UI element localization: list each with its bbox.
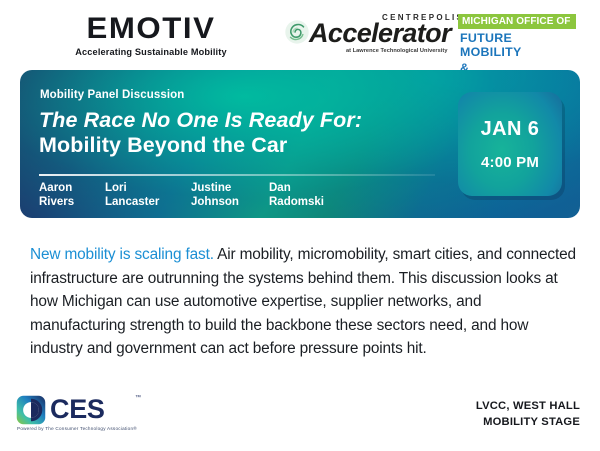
centrepolis-subtitle: at Lawrence Technological University [346,48,447,54]
ces-logo: CES ™ Powered by The Consumer Technology… [16,393,176,435]
panelist-first-name: Dan [269,182,359,196]
banner-title-line-2: Mobility Beyond the Car [39,133,287,158]
panelist-item: Dan Radomski [269,182,359,209]
panelist-item: Lori Lancaster [105,182,191,209]
emotiv-logo: EMOTIV Accelerating Sustainable Mobility [46,14,256,57]
description-lead: New mobility is scaling fast. [30,246,214,263]
emotiv-tagline: Accelerating Sustainable Mobility [46,47,256,57]
banner-divider [39,174,435,176]
panelist-last-name: Radomski [269,196,359,210]
panelist-first-name: Aaron [39,182,105,196]
panelist-first-name: Lori [105,182,191,196]
swirl-icon [284,19,310,45]
ces-cube-icon [16,395,46,425]
event-date: JAN 6 [481,118,540,140]
event-banner: Mobility Panel Discussion The Race No On… [20,70,580,218]
event-date-card: JAN 6 4:00 PM [458,92,562,196]
panelist-item: Justine Johnson [191,182,269,209]
event-slide: EMOTIV Accelerating Sustainable Mobility… [0,0,600,451]
venue-line-2: MOBILITY STAGE [476,414,580,430]
panelist-item: Aaron Rivers [39,182,105,209]
panelist-list: Aaron Rivers Lori Lancaster Justine John… [39,182,459,209]
ces-wordmark: CES [50,394,105,424]
emotiv-wordmark: EMOTIV [42,14,260,44]
panelist-last-name: Johnson [191,196,269,210]
panelist-first-name: Justine [191,182,269,196]
michigan-line-1: FUTURE MOBILITY [458,29,576,59]
panelist-last-name: Rivers [39,196,105,210]
event-time: 4:00 PM [481,154,539,171]
banner-kicker: Mobility Panel Discussion [40,89,184,101]
sponsor-logo-bar: EMOTIV Accelerating Sustainable Mobility… [0,0,600,66]
accelerator-wordmark: Accelerator [309,20,451,47]
michigan-band-label: MICHIGAN OFFICE OF [458,14,576,29]
centrepolis-accelerator-logo: CENTREPOLIS Accelerator at Lawrence Tech… [284,13,456,55]
venue-line-1: LVCC, WEST HALL [476,398,580,414]
banner-title-line-1: The Race No One Is Ready For: [39,108,362,133]
venue-info: LVCC, WEST HALL MOBILITY STAGE [476,398,580,430]
ces-trademark: ™ [135,395,141,401]
panelist-last-name: Lancaster [105,196,191,210]
ces-tagline: Powered by The Consumer Technology Assoc… [17,426,137,431]
event-description: New mobility is scaling fast. Air mobili… [30,243,578,361]
